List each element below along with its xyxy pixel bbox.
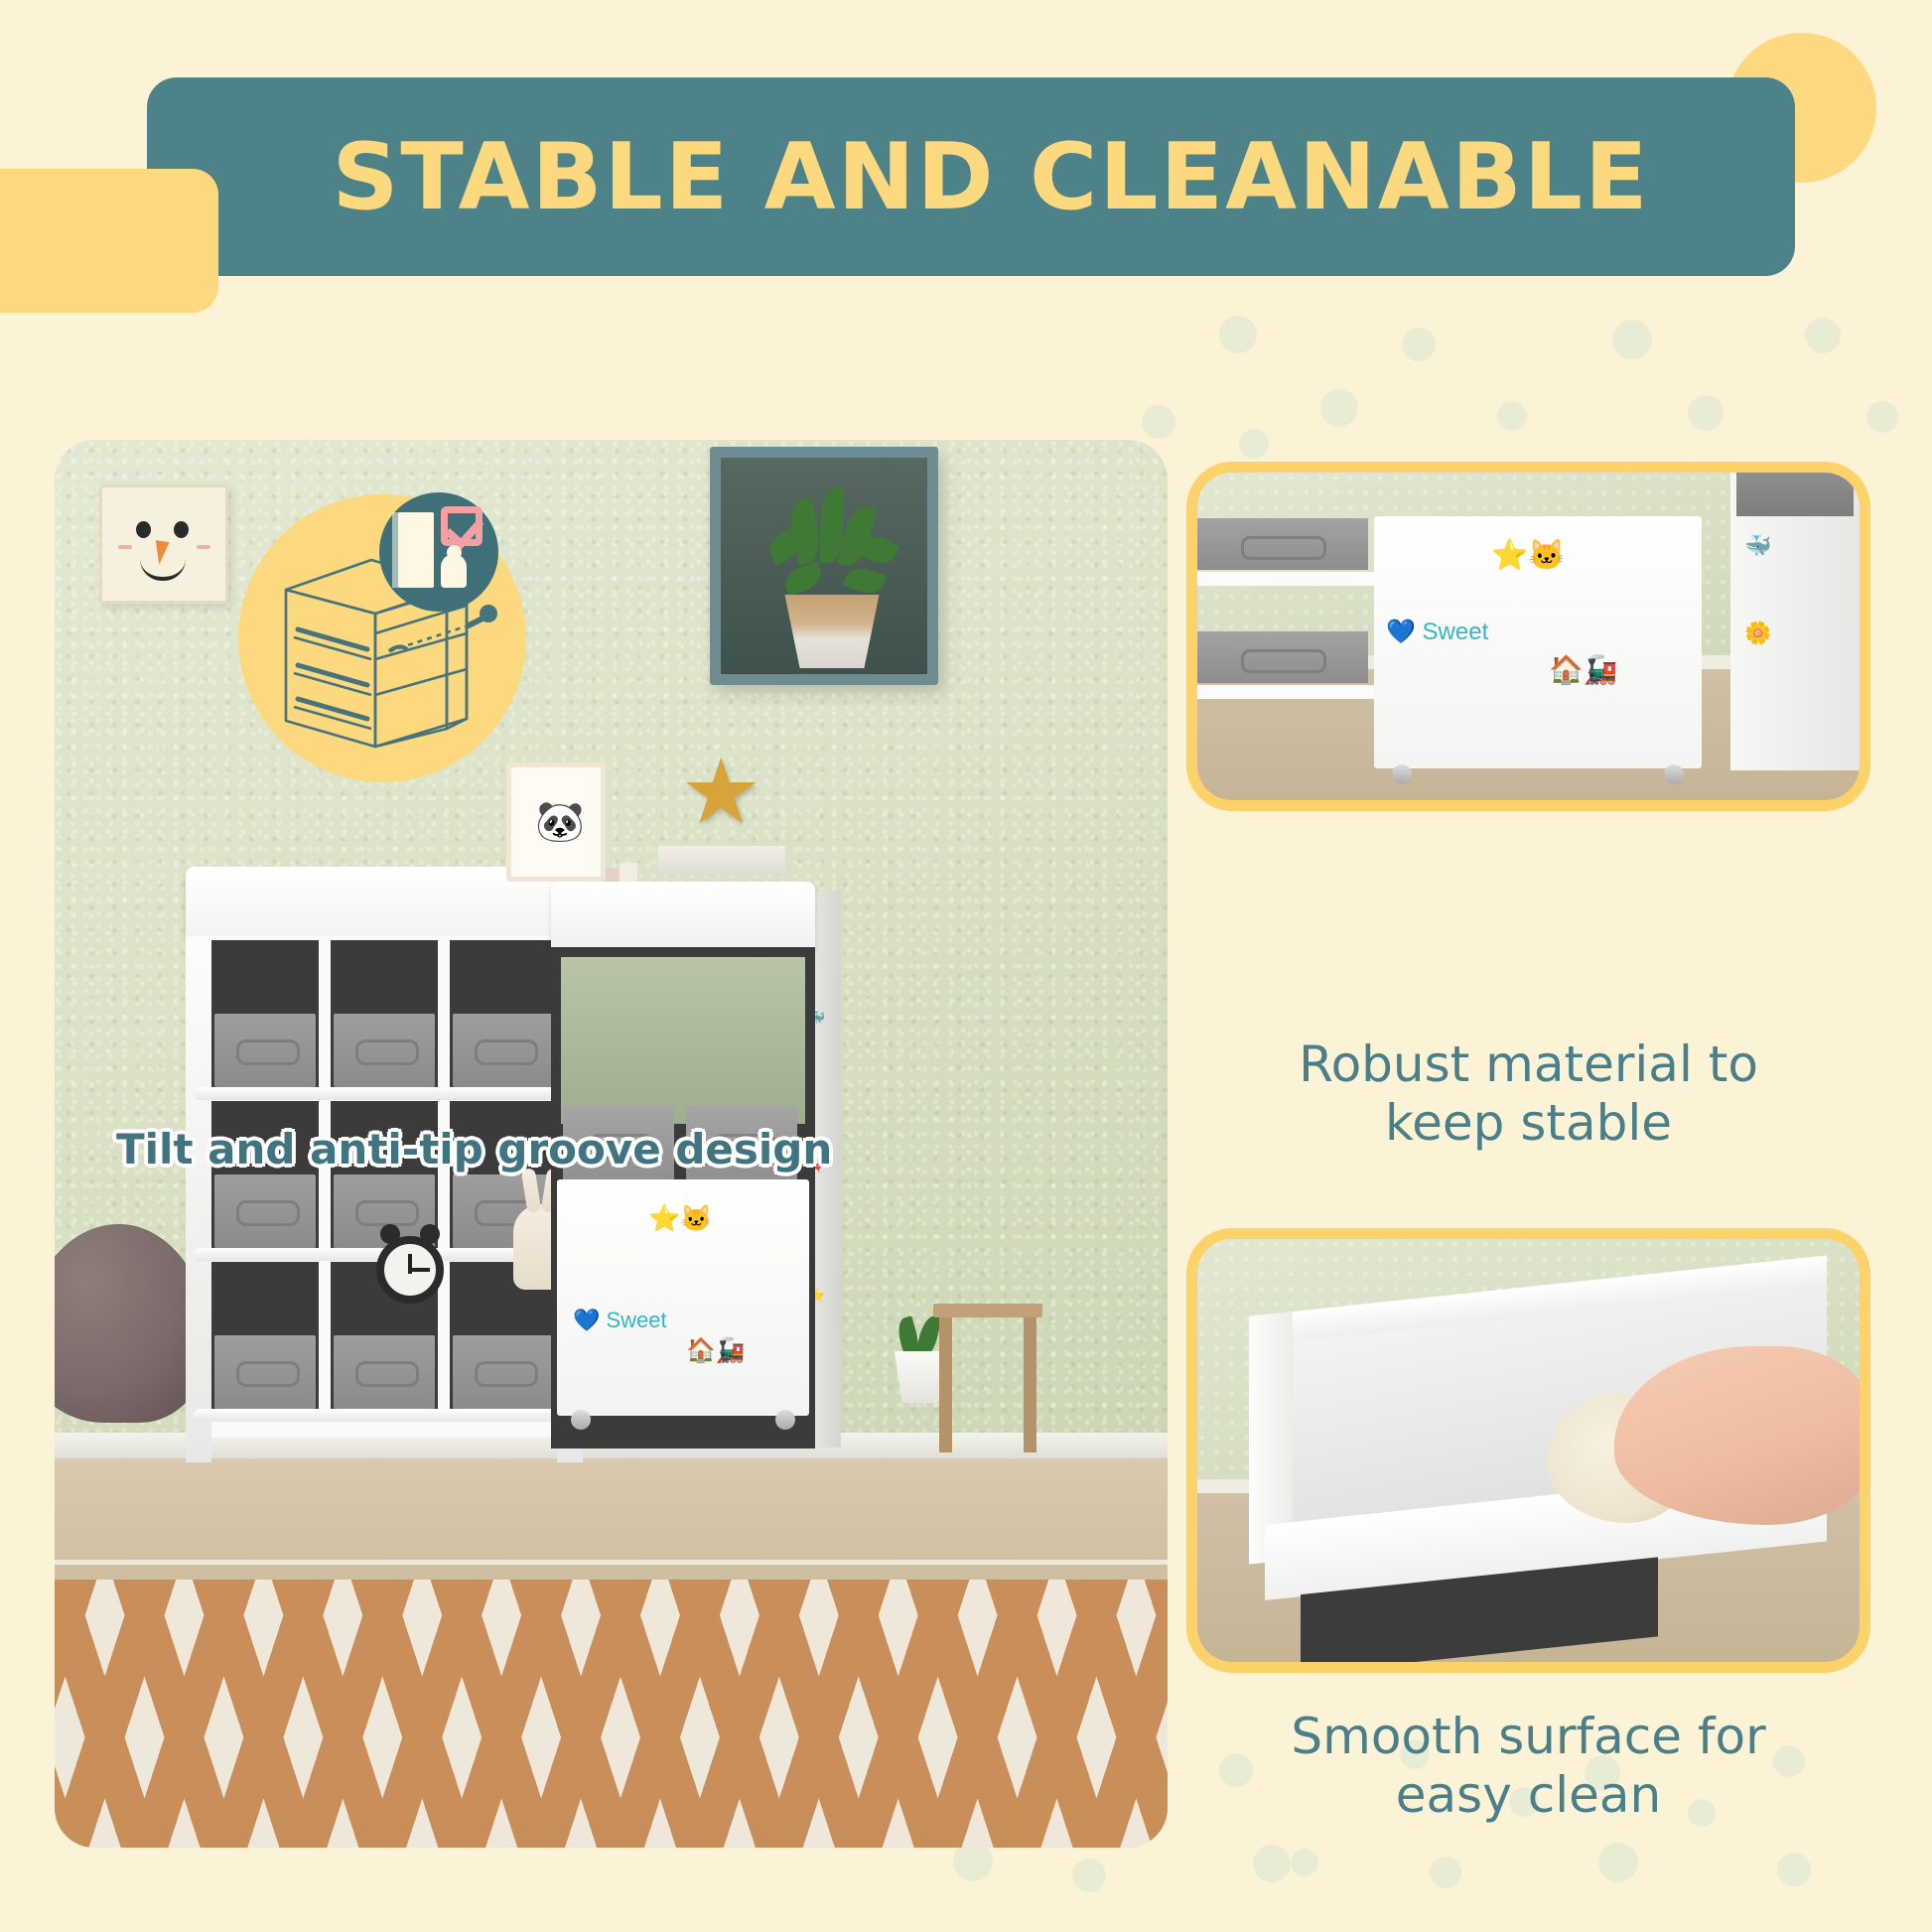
storage-cubby [211,1101,319,1252]
panda-illustration: 🐼 [535,801,585,843]
right-cabinet-side: 🐳 🌼 [1730,473,1860,770]
storage-bin [1193,518,1368,570]
star-cat-sticker: ⭐🐱 [1491,540,1566,572]
star-cat-sticker: ⭐🐱 [648,1205,713,1232]
caster-wheel [571,1410,591,1430]
sweet-love-balloon-sticker: 💙 Sweet [573,1309,667,1331]
storage-cubby [211,1262,319,1413]
child-figure-icon [441,554,467,588]
storage-bin [334,1335,435,1409]
flower-sticker: 🌼 [1744,621,1771,644]
caption-line-2: easy clean [1186,1766,1870,1825]
main-product-photo: Tilt and anti-tip groove design [55,440,1168,1848]
side-table [933,1304,1042,1452]
plant-leaf [843,563,887,599]
storage-bin [334,1014,435,1087]
stacked-books [658,846,785,876]
snowman-cheek-right [197,545,210,549]
shelf-rail [1187,572,1376,586]
side-table-leg [1024,1317,1036,1452]
storage-cubby [211,940,319,1091]
snowman-eye-left [136,521,151,538]
header-title-bar: STABLE AND CLEANABLE [147,77,1795,276]
storage-bin [214,1014,316,1087]
wall-cube-shelf [710,447,938,685]
cabinet-top-surface [551,882,815,949]
header-banner: STABLE AND CLEANABLE [0,0,1932,357]
side-table-top [933,1304,1042,1317]
checkered-rug [55,1580,1168,1848]
shelf-rail [194,1087,575,1100]
snowman-eye-right [174,521,189,538]
shelf-rail [194,1409,575,1422]
left-shelf-stack [1187,473,1376,770]
floor-seam [55,1560,1168,1565]
panel-robust-material: 🐳 🌼 ⭐🐱 💙 Sweet 🏠🚂 [1186,462,1870,811]
storage-bin [214,1335,316,1409]
snowman-cheek-left [118,545,132,549]
snowman-smile [140,559,186,581]
checkmark-box-icon [441,506,483,546]
open-compartment [561,957,805,1124]
caster-wheel [1664,764,1684,784]
plant-leaf [781,562,825,597]
plant-pot [778,595,886,668]
storage-bin [1736,473,1854,516]
feature-badge-circle [238,494,526,782]
caption-line-1: Smooth surface for [1186,1708,1870,1766]
side-table-leg [939,1317,952,1452]
panel-smooth-surface [1186,1228,1870,1673]
storage-bin [453,1014,554,1087]
cube-interior [721,458,927,674]
caption-robust-material: Robust material to keep stable [1186,1035,1870,1153]
sweet-love-balloon-sticker: 💙 Sweet [1386,620,1488,644]
panda-picture-frame: 🐼 [506,762,606,882]
header-accent-tab [0,169,218,313]
storage-bin [1193,631,1368,683]
snowman-wall-art [99,484,228,604]
house-train-sticker: 🏠🚂 [1549,655,1618,684]
shelf-side-left [186,936,211,1462]
house-train-sticker: 🏠🚂 [686,1338,746,1363]
rolling-toy-cabinet: 🐳 🎈 ⭐ ⭐🐱 💙 Sweet 🏠🚂 🐼 ★ [551,882,841,1467]
caption-line-2: keep stable [1186,1094,1870,1153]
shelf-rail [1187,685,1376,699]
alarm-clock [376,1236,444,1304]
storage-cubby [450,940,557,1091]
storage-bin [214,1174,316,1248]
shelf-row [211,940,557,1091]
caption-line-1: Robust material to [1186,1035,1870,1094]
rolling-cabinet-door: ⭐🐱 💙 Sweet 🏠🚂 [1374,516,1702,768]
storage-bin [453,1335,554,1409]
child-safety-icon [379,492,498,612]
caption-smooth-surface: Smooth surface for easy clean [1186,1708,1870,1825]
page-title: STABLE AND CLEANABLE [292,131,1649,223]
cabinet-drawer-front: ⭐🐱 💙 Sweet 🏠🚂 [557,1179,809,1416]
storage-cubby [331,940,438,1091]
caster-wheel [775,1410,795,1430]
starfish-ornament: ★ [680,747,761,838]
main-photo-caption: Tilt and anti-tip groove design [116,1125,832,1173]
cabinet-icon [398,512,434,588]
clock-hand-minute [410,1268,430,1272]
caster-wheel [1392,764,1412,784]
whale-sticker: 🐳 [1744,534,1771,557]
